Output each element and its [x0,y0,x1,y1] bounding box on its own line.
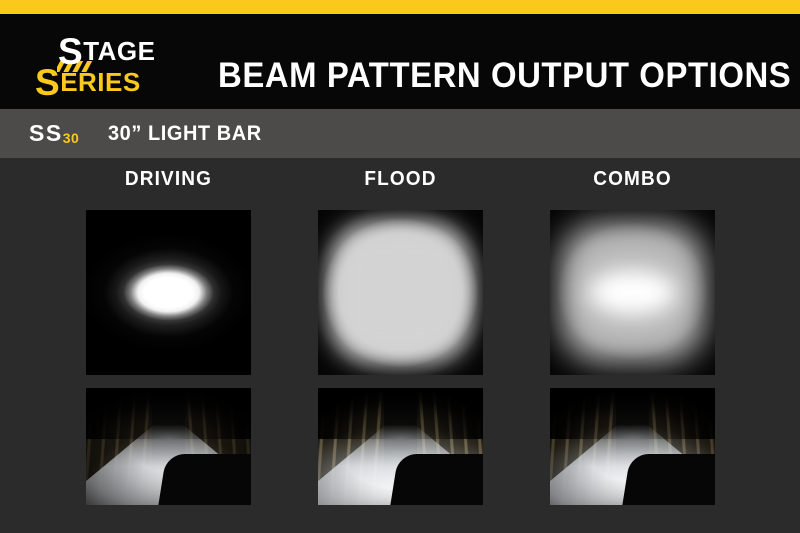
page-title: BEAM PATTERN OUTPUT OPTIONS [218,58,791,93]
column-heading-combo: COMBO [554,169,711,189]
logo-stage-rest: TAGE [83,36,155,66]
combo-road-photo [550,388,715,505]
product-subheader-bar: SS30 30” LIGHT BAR [0,109,800,158]
flood-road-photo [318,388,483,505]
model-size-text: 30 [63,130,80,146]
vehicle-hood [157,454,251,505]
vehicle-hood [621,454,715,505]
header-bar: STAGE SERIES BEAM PATTERN OUTPUT OPTIONS [0,14,800,109]
model-badge: SS30 [29,122,79,145]
top-accent-bar [0,0,800,14]
column-heading-driving: DRIVING [90,169,247,189]
beam-pattern-infographic: STAGE SERIES BEAM PATTERN OUTPUT OPTIONS… [0,0,800,533]
combo-beam-hotspot [588,269,677,315]
logo-text-series: SERIES [35,64,141,101]
stage-series-logo: STAGE SERIES [33,33,193,101]
flood-beam-pattern [318,210,483,375]
combo-beam-pattern [550,210,715,375]
driving-beam-glow [86,210,251,375]
vehicle-hood [389,454,483,505]
logo-series-rest: ERIES [60,67,141,97]
logo-series-cap: S [35,62,60,103]
driving-road-photo [86,388,251,505]
driving-beam-pattern [86,210,251,375]
product-label: 30” LIGHT BAR [108,123,262,144]
model-code-text: SS [29,120,63,146]
beam-comparison-columns: DRIVING FLOOD [0,158,800,533]
flood-beam-core [333,225,468,360]
column-heading-flood: FLOOD [322,169,479,189]
